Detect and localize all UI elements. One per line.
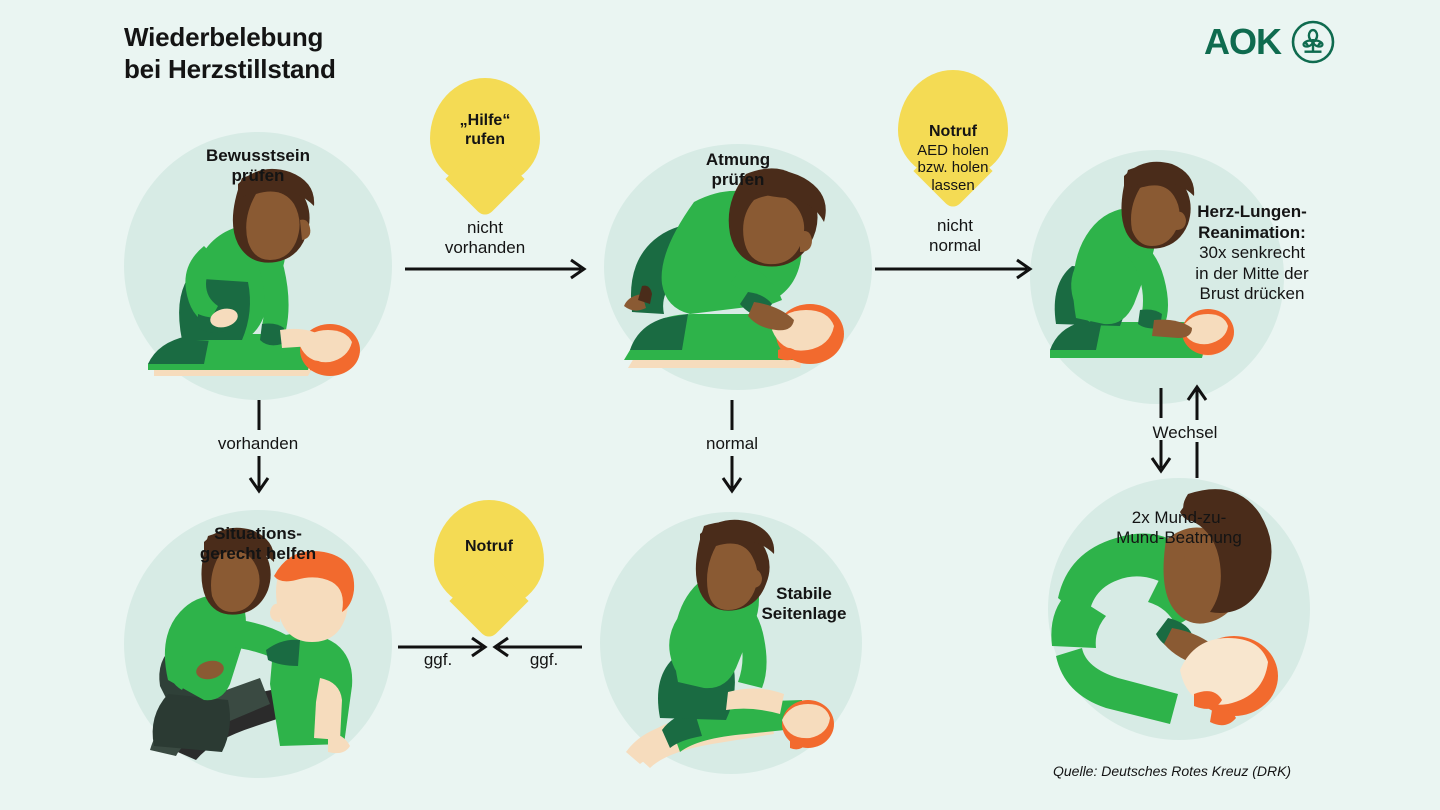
scene-caption-atmung: Atmung prüfen [604, 150, 872, 191]
scene-caption-situations: Situations- gerecht helfen [124, 524, 392, 565]
scene-bewusstsein-pruefen: Bewusstsein prüfen [124, 132, 392, 400]
arrow-label-ggf-left: ggf. [396, 650, 480, 670]
arrow-label-vorhanden: vorhanden [178, 434, 338, 454]
arrow-label-wechsel: Wechsel [1126, 423, 1244, 443]
pin-title-notruf-aed: Notruf [929, 123, 977, 140]
source-note: Quelle: Deutsches Rotes Kreuz (DRK) [1053, 763, 1291, 779]
scene-situationsgerecht-helfen: Situations- gerecht helfen [124, 510, 392, 778]
pin-notruf: Notruf [434, 500, 544, 650]
arrow-nicht-normal [875, 258, 1041, 280]
arrow-label-nicht-vorhanden: nicht vorhanden [405, 218, 565, 259]
arrow-label-nicht-normal: nicht normal [875, 216, 1035, 257]
aok-logo: AOK [1204, 20, 1335, 64]
pin-notruf-aed: Notruf AED holen bzw. holen lassen [898, 70, 1008, 220]
aok-tree-emblem-icon [1291, 20, 1335, 64]
scene-stabile-seitenlage: Stabile Seitenlage [600, 512, 862, 774]
scene-atmung-pruefen: Atmung prüfen [604, 144, 872, 390]
scene-herz-lungen-reanimation: Herz-Lungen- Reanimation: 30x senkrecht … [1030, 150, 1284, 404]
arrow-label-ggf-right: ggf. [502, 650, 586, 670]
pin-hilfe-rufen: „Hilfe“ rufen [430, 78, 540, 228]
infographic-canvas: Wiederbelebung bei Herzstillstand AOK [0, 0, 1440, 810]
aok-wordmark: AOK [1204, 24, 1281, 60]
pin-label-hilfe: „Hilfe“ rufen [430, 112, 540, 150]
scene-mund-zu-mund-beatmung: 2x Mund-zu- Mund-Beatmung [1048, 478, 1310, 740]
pin-label-notruf-aed: Notruf AED holen bzw. holen lassen [898, 104, 1008, 213]
illustration-recovery-position [600, 512, 862, 774]
arrow-nicht-vorhanden [405, 258, 593, 280]
pin-sub-notruf-aed: AED holen bzw. holen lassen [898, 142, 1008, 194]
scene-caption-bewusstsein: Bewusstsein prüfen [124, 146, 392, 187]
arrow-label-normal: normal [652, 434, 812, 454]
scene-caption-beatmung: 2x Mund-zu- Mund-Beatmung [1048, 508, 1310, 549]
pin-label-notruf: Notruf [434, 538, 544, 557]
scene-caption-seitenlage: Stabile Seitenlage [718, 584, 890, 625]
scene-caption-hlr-sub: 30x senkrecht in der Mitte der Brust drü… [1168, 243, 1336, 304]
scene-caption-hlr-title: Herz-Lungen- Reanimation: [1197, 202, 1307, 241]
scene-caption-hlr: Herz-Lungen- Reanimation: 30x senkrecht … [1168, 182, 1336, 325]
page-title: Wiederbelebung bei Herzstillstand [124, 22, 336, 86]
